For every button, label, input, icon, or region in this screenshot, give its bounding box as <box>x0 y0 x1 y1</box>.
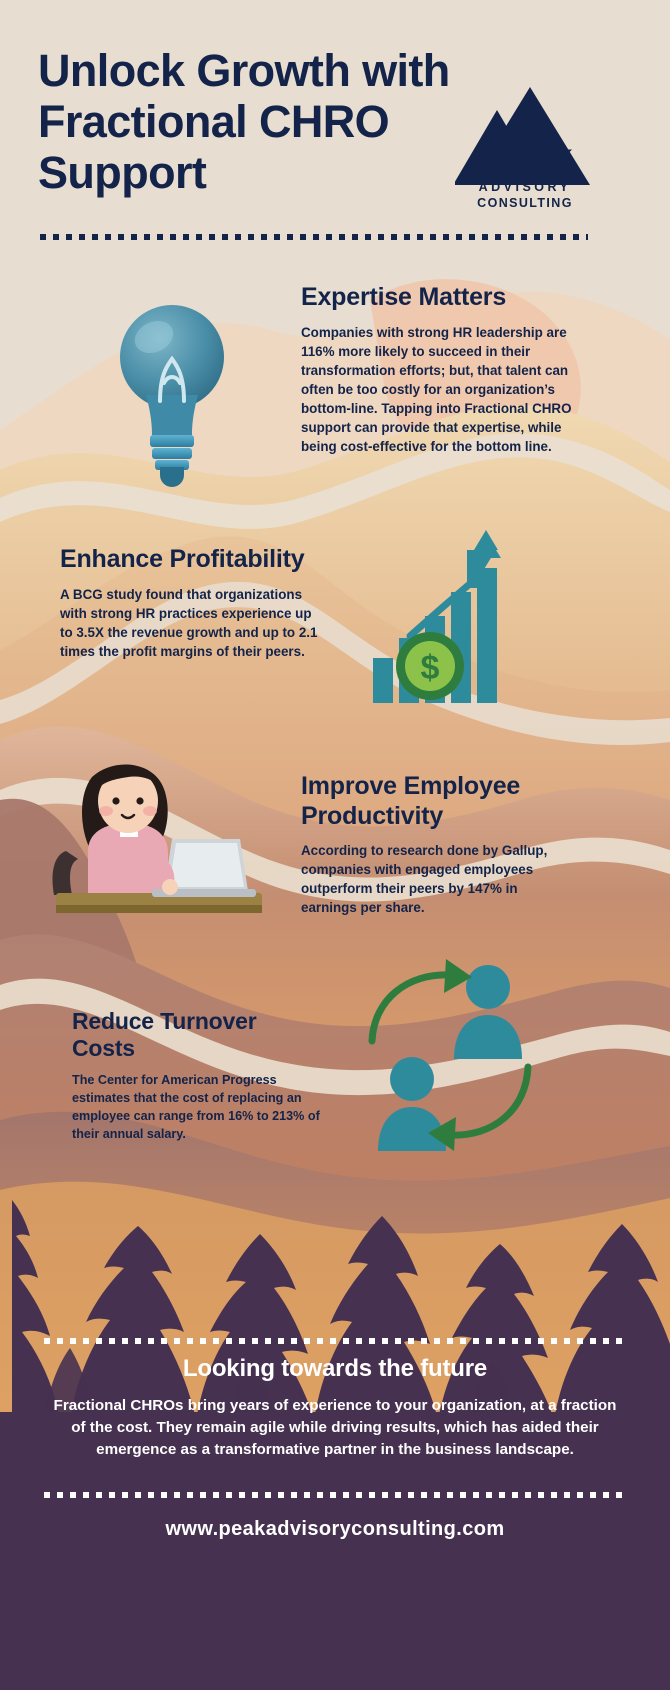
section-enhance-profitability: Enhance Profitability A BCG study found … <box>60 545 325 661</box>
logo-consulting-text: CONSULTING <box>455 196 595 210</box>
section-improve-employee-productivity: Improve Employee Productivity According … <box>301 772 566 917</box>
growth-chart-dollar-icon: $ <box>368 528 518 708</box>
footer-body: Fractional CHROs bring years of experien… <box>45 1395 625 1462</box>
footer-bottom-divider <box>44 1492 624 1498</box>
logo-advisory-text: ADVISORY <box>455 180 595 194</box>
section-expertise-matters: Expertise Matters Companies with strong … <box>301 283 591 456</box>
svg-text:$: $ <box>421 649 440 687</box>
header-divider <box>40 234 588 240</box>
section-heading: Expertise Matters <box>301 283 591 313</box>
footer-top-divider <box>44 1338 624 1344</box>
section-heading: Reduce Turnover Costs <box>72 1008 322 1062</box>
poster-header: Unlock Growth with Fractional CHRO Suppo… <box>0 0 670 250</box>
section-body: The Center for American Progress estimat… <box>72 1072 322 1144</box>
logo-wordmark: PEAK <box>455 145 595 179</box>
person-at-laptop-icon <box>44 755 274 935</box>
section-body: According to research done by Gallup, co… <box>301 841 566 917</box>
employee-turnover-cycle-icon <box>350 955 550 1165</box>
page-title: Unlock Growth with Fractional CHRO Suppo… <box>38 46 458 199</box>
section-reduce-turnover-costs: Reduce Turnover Costs The Center for Ame… <box>72 1008 322 1144</box>
brand-logo: PEAK ADVISORY CONSULTING <box>455 85 595 220</box>
website-url[interactable]: www.peakadvisoryconsulting.com <box>0 1518 670 1541</box>
footer-heading: Looking towards the future <box>0 1355 670 1383</box>
lightbulb-icon <box>110 295 240 495</box>
section-heading: Enhance Profitability <box>60 545 325 575</box>
section-body: A BCG study found that organizations wit… <box>60 585 325 661</box>
section-heading: Improve Employee Productivity <box>301 772 566 831</box>
section-body: Companies with strong HR leadership are … <box>301 323 591 456</box>
infographic-poster: Unlock Growth with Fractional CHRO Suppo… <box>0 0 670 1690</box>
